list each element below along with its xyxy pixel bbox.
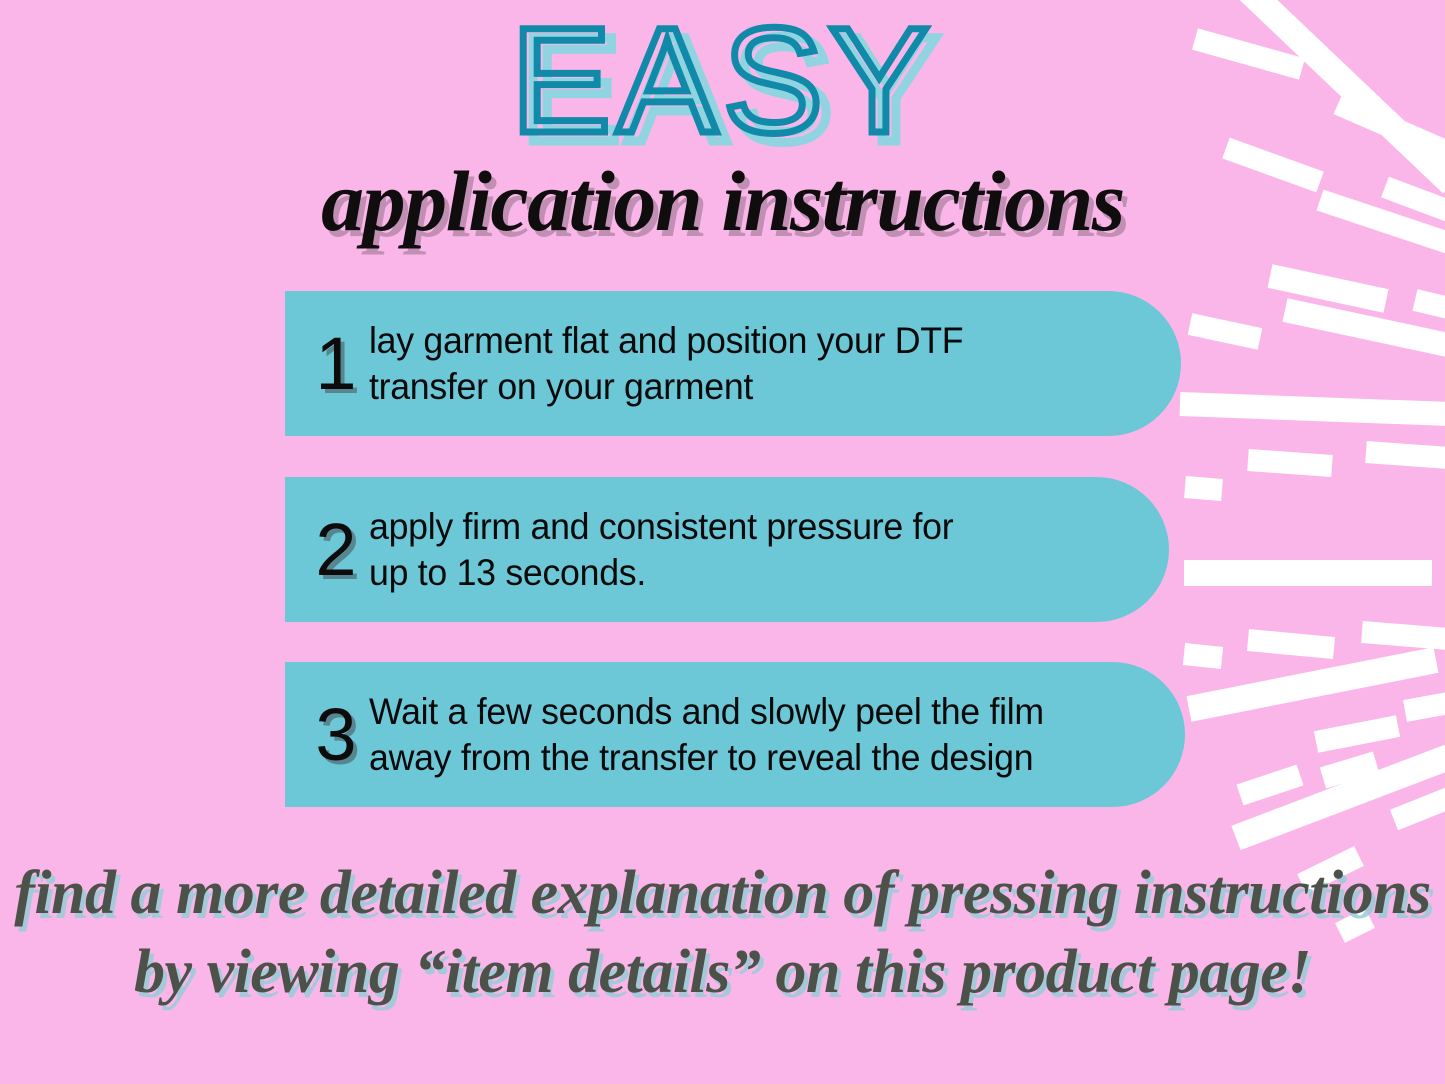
step-number-3: 3 xyxy=(285,698,369,772)
sunburst-dash xyxy=(1190,324,1260,339)
sunburst-dash xyxy=(1248,640,1334,648)
step-pill-1: 1 lay garment flat and position your DTF… xyxy=(285,291,1181,436)
easy-text-outline: EASY xyxy=(510,8,934,164)
sunburst-dash xyxy=(1240,775,1300,795)
headline-easy: EASY EASY xyxy=(0,8,1445,168)
sunburst-dash xyxy=(1270,276,1386,301)
footer-line-1: find a more detailed explanation of pres… xyxy=(0,862,1445,924)
sunburst-dash xyxy=(1180,404,1445,414)
sunburst-dash xyxy=(1366,452,1445,458)
sunburst-dash xyxy=(1362,632,1445,639)
headline-script-title: application instructions xyxy=(0,158,1445,244)
step-text-3: Wait a few seconds and slowly peel the f… xyxy=(369,689,1044,780)
step-text-2: apply firm and consistent pressure for u… xyxy=(369,504,953,595)
sunburst-dash xyxy=(1405,703,1445,711)
sunburst-dash xyxy=(1285,310,1445,345)
easy-outline-svg: EASY EASY xyxy=(343,8,1103,168)
sunburst-dash xyxy=(1323,762,1376,778)
sunburst-dash xyxy=(1185,487,1222,490)
step-number-1: 1 xyxy=(285,327,369,401)
sunburst-dash xyxy=(1236,757,1445,838)
step-text-1: lay garment flat and position your DTF t… xyxy=(369,318,963,409)
sunburst-dash xyxy=(1316,726,1398,742)
footer-line-2: by viewing “item details” on this produc… xyxy=(0,941,1445,1003)
step-pill-2: 2 apply firm and consistent pressure for… xyxy=(285,477,1169,622)
instruction-poster: EASY EASY application instructions 1 lay… xyxy=(0,0,1445,1084)
sunburst-dash xyxy=(1394,798,1445,820)
step-number-2: 2 xyxy=(285,513,369,587)
sunburst-dash xyxy=(1415,300,1445,308)
sunburst-dash xyxy=(1248,460,1332,466)
sunburst-dash xyxy=(1184,654,1222,658)
sunburst-dash xyxy=(1189,660,1436,709)
step-pill-3: 3 Wait a few seconds and slowly peel the… xyxy=(285,662,1185,807)
